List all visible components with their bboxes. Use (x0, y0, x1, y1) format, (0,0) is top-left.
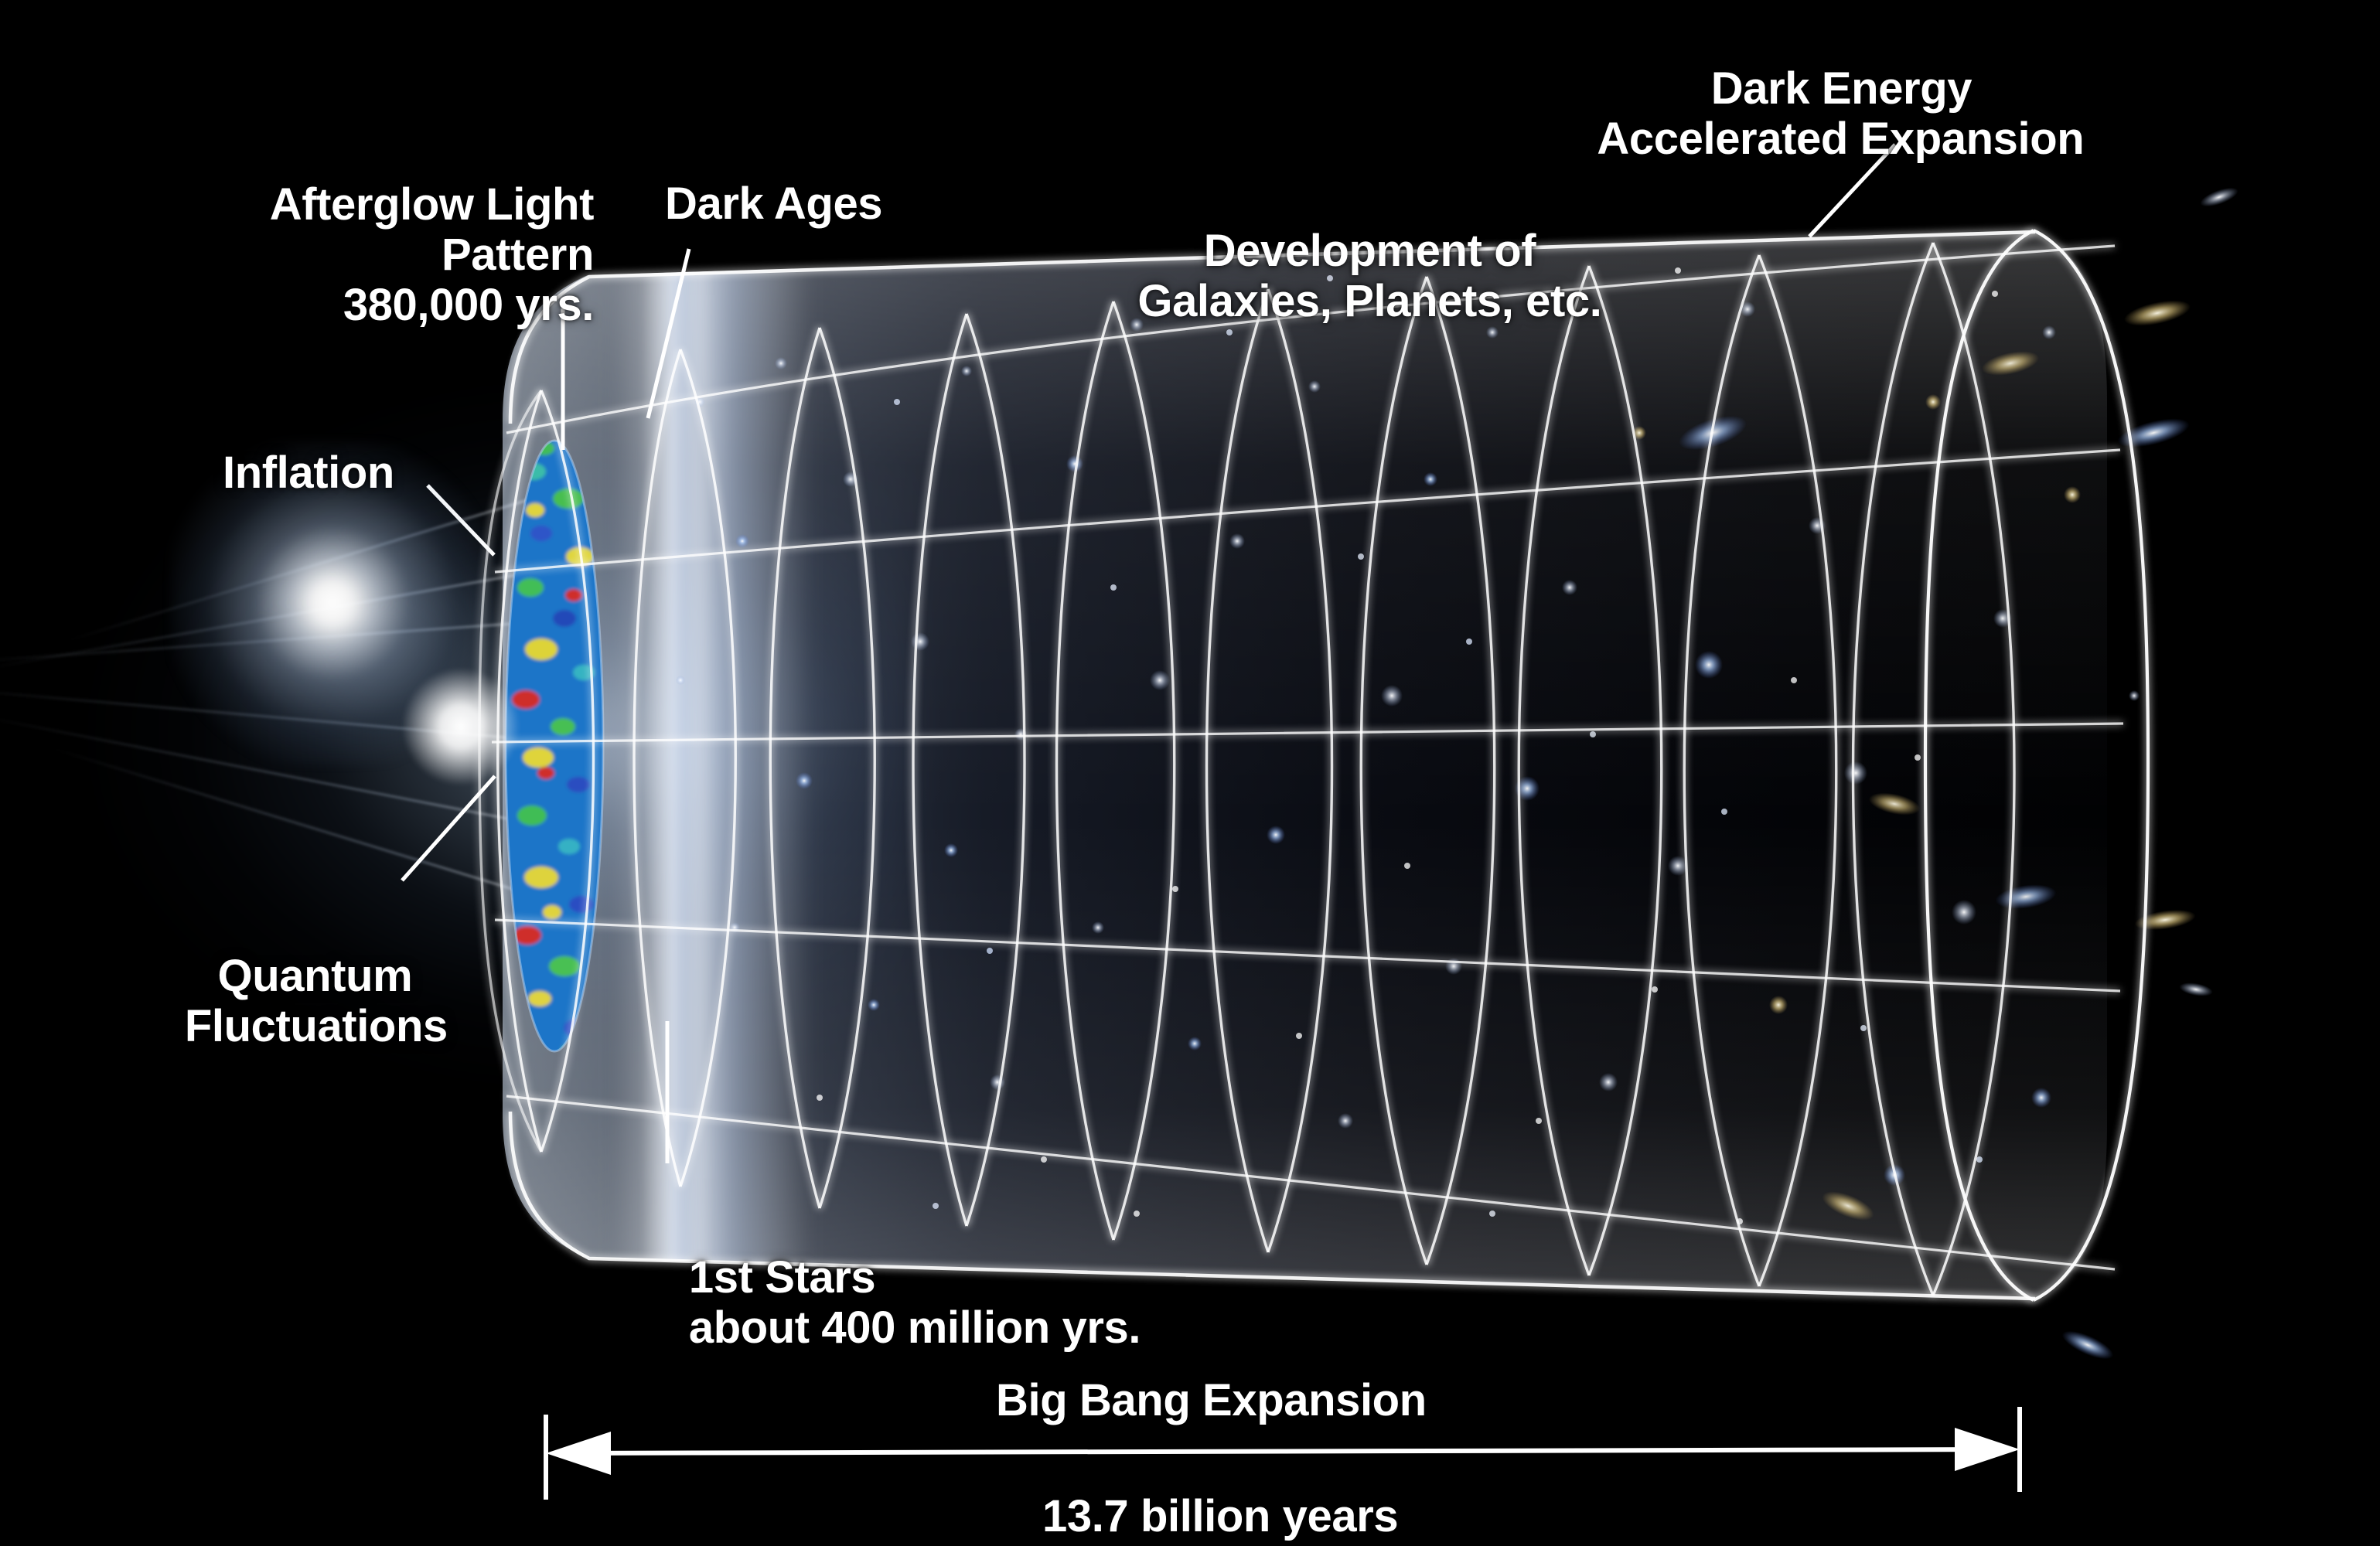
first-stars-line-1: 1st Stars (689, 1252, 875, 1303)
quantum-line-2: Fluctuations (185, 1001, 448, 1051)
arrow-head-left (546, 1432, 611, 1475)
arrow-shaft (564, 1449, 2007, 1453)
label-big-bang-expansion: Big Bang Expansion (996, 1376, 1427, 1426)
afterglow-line-3: 380,000 yrs. (343, 280, 594, 330)
big-bang-hot-spot (403, 669, 519, 785)
afterglow-line-1: Afterglow Light (270, 179, 594, 230)
label-quantum-fluctuations: Quantum Fluctuations (136, 901, 445, 1102)
label-afterglow-light-pattern: Afterglow Light Pattern 380,000 yrs. (207, 130, 594, 381)
first-stars-line-2: about 400 million yrs. (689, 1303, 1141, 1353)
label-age-of-universe: 13.7 billion years (1042, 1492, 1398, 1542)
dark-energy-line-2: Accelerated Expansion (1597, 114, 2084, 164)
arrow-head-right (1955, 1428, 2020, 1471)
label-dark-ages: Dark Ages (665, 179, 882, 230)
development-line-2: Galaxies, Planets, etc. (1137, 276, 1601, 326)
cosmic-timeline-figure: Afterglow Light Pattern 380,000 yrs. Dar… (0, 0, 2380, 1546)
label-first-stars: 1st Stars about 400 million yrs. (640, 1203, 1141, 1404)
development-line-1: Development of (1204, 226, 1536, 276)
label-inflation: Inflation (223, 448, 394, 499)
dark-energy-line-1: Dark Energy (1711, 63, 1972, 114)
label-dark-energy: Dark Energy Accelerated Expansion (1516, 14, 2119, 215)
quantum-line-1: Quantum (218, 951, 413, 1001)
afterglow-line-2: Pattern (442, 230, 594, 280)
